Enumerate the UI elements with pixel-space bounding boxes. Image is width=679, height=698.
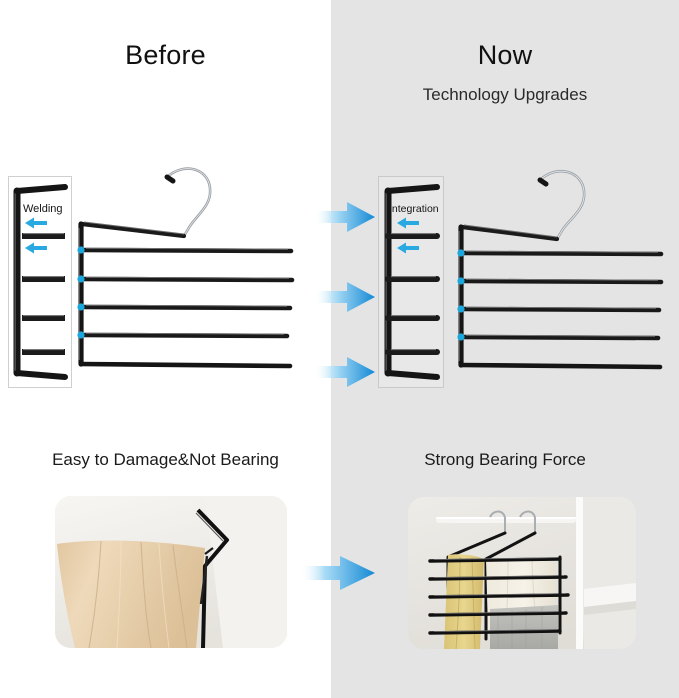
right-hanger-illustration: [442, 152, 679, 402]
transition-arrow-1: [314, 200, 376, 234]
right-panel-subtitle: Technology Upgrades: [331, 85, 679, 105]
arrow-right-icon: [314, 200, 376, 234]
welding-label: Welding: [23, 203, 63, 215]
transition-arrow-2: [314, 280, 376, 314]
left-panel-title: Before: [0, 40, 331, 71]
left-product-photo: [55, 496, 287, 648]
arrow-right-icon: [314, 280, 376, 314]
right-panel-title: Now: [331, 40, 679, 71]
right-panel-caption: Strong Bearing Force: [331, 450, 679, 470]
comparison-infographic: Before Now Technology Upgrades: [0, 0, 679, 698]
left-panel-caption: Easy to Damage&Not Bearing: [0, 450, 331, 470]
integration-detail-inset: Integration: [378, 176, 444, 388]
right-product-photo: [408, 497, 636, 649]
welding-detail-inset: Welding: [8, 176, 72, 388]
left-hanger-illustration: [72, 152, 312, 402]
arrow-right-icon: [300, 553, 376, 593]
transition-arrow-bottom: [300, 553, 376, 593]
arrow-right-icon: [314, 355, 376, 389]
integration-label: Integration: [389, 203, 439, 215]
transition-arrow-3: [314, 355, 376, 389]
